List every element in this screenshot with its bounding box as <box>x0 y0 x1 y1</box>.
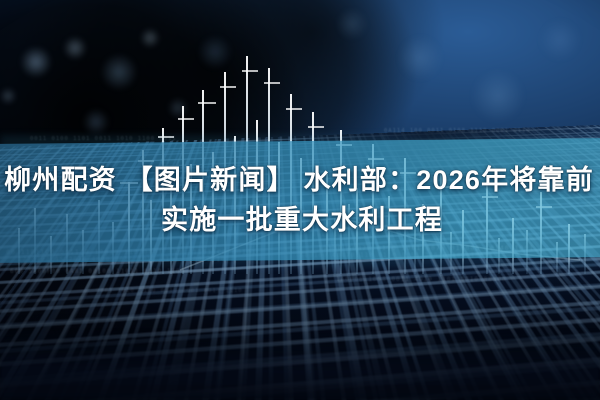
caption-line-1: 柳州配资 【图片新闻】 水利部：2026年将靠前 <box>0 160 600 200</box>
foreground-blur <box>0 330 600 400</box>
news-banner-image: 00 11011C0 0011,0 10010 110 0001 1101 11… <box>0 0 600 400</box>
caption-line-2: 实施一批重大水利工程 <box>0 200 600 240</box>
caption-text-block: 柳州配资 【图片新闻】 水利部：2026年将靠前 实施一批重大水利工程 <box>0 160 600 240</box>
